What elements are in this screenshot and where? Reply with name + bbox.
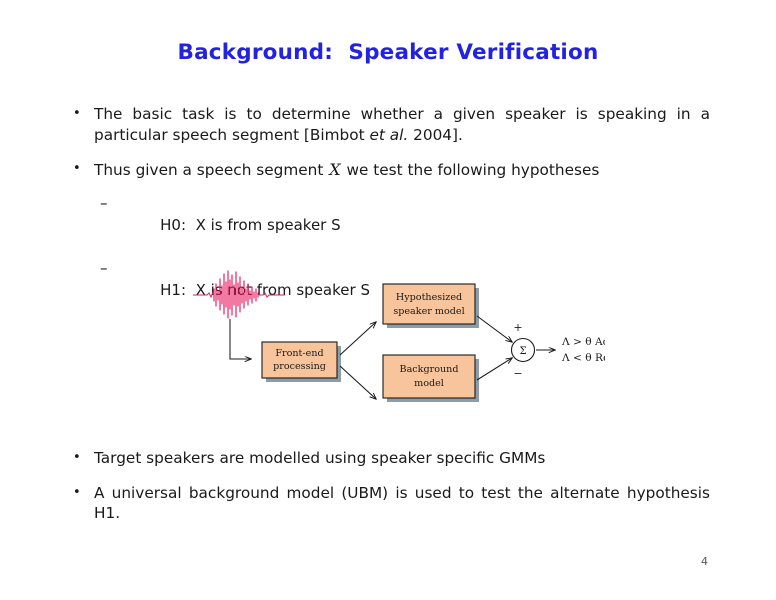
summation-node: Σ + − — [512, 321, 535, 380]
bullet-item-hypotheses: •Thus given a speech segment X we test t… — [70, 159, 710, 181]
minus-sign-label: − — [513, 367, 522, 380]
page-title: Background: Speaker Verification — [0, 40, 776, 65]
bullet-text-part-2: 2004]. — [408, 126, 463, 144]
bullet-marker: • — [73, 483, 81, 503]
block-background-model: Background model — [383, 355, 479, 402]
bullet-text: A universal background model (UBM) is us… — [94, 484, 710, 523]
sub-bullet-label: H0: X is from speaker S — [160, 216, 340, 234]
plus-sign-label: + — [513, 321, 522, 334]
block-label-line2: model — [414, 378, 444, 389]
bullet-item-basic-task: •The basic task is to determine whether … — [70, 104, 710, 145]
block-front-end-processing: Front-end processing — [262, 342, 341, 382]
citation-et-al: et al. — [369, 126, 408, 144]
bullet-marker: • — [73, 448, 81, 468]
speaker-verification-diagram: Front-end processing Hypothesized speake… — [185, 262, 605, 412]
block-label-line1: Front-end — [275, 348, 323, 359]
block-label-line2: speaker model — [393, 306, 464, 317]
slide-canvas: Background: Speaker Verification •The ba… — [0, 0, 776, 600]
sigma-icon: Σ — [519, 346, 526, 357]
sub-bullet-marker: – — [100, 193, 108, 215]
arrow-frontend-to-background — [340, 366, 376, 399]
arrow-hypothesized-to-sum — [477, 316, 512, 342]
block-label-line1: Background — [400, 364, 459, 375]
bullet-marker: • — [73, 104, 81, 124]
decision-accept-label: Λ > θ Accept — [561, 336, 605, 348]
bullet-item-target-speakers: •Target speakers are modelled using spea… — [70, 448, 710, 469]
speech-waveform-icon — [193, 271, 285, 318]
arrow-background-to-sum — [477, 358, 512, 380]
block-label-line1: Hypothesized — [396, 292, 462, 303]
block-hypothesized-speaker-model: Hypothesized speaker model — [383, 284, 479, 328]
page-number: 4 — [701, 555, 708, 568]
bullet-item-ubm: •A universal background model (UBM) is u… — [70, 483, 710, 524]
bullet-marker: • — [73, 159, 81, 179]
block-label-line2: processing — [273, 361, 326, 372]
bullet-list-bottom: •Target speakers are modelled using spea… — [70, 448, 710, 538]
bullet-text-part-2: we test the following hypotheses — [342, 161, 600, 179]
arrow-frontend-to-hypothesized — [340, 322, 376, 355]
decision-reject-label: Λ < θ Reject — [561, 352, 605, 364]
bullet-text: Target speakers are modelled using speak… — [94, 449, 545, 467]
sub-bullet-h0: –H0: X is from speaker S — [100, 193, 710, 258]
math-variable-x: X — [328, 160, 341, 179]
sub-bullet-marker: – — [100, 258, 108, 280]
arrow-waveform-to-frontend — [230, 319, 251, 359]
bullet-text-part-1: Thus given a speech segment — [94, 161, 328, 179]
